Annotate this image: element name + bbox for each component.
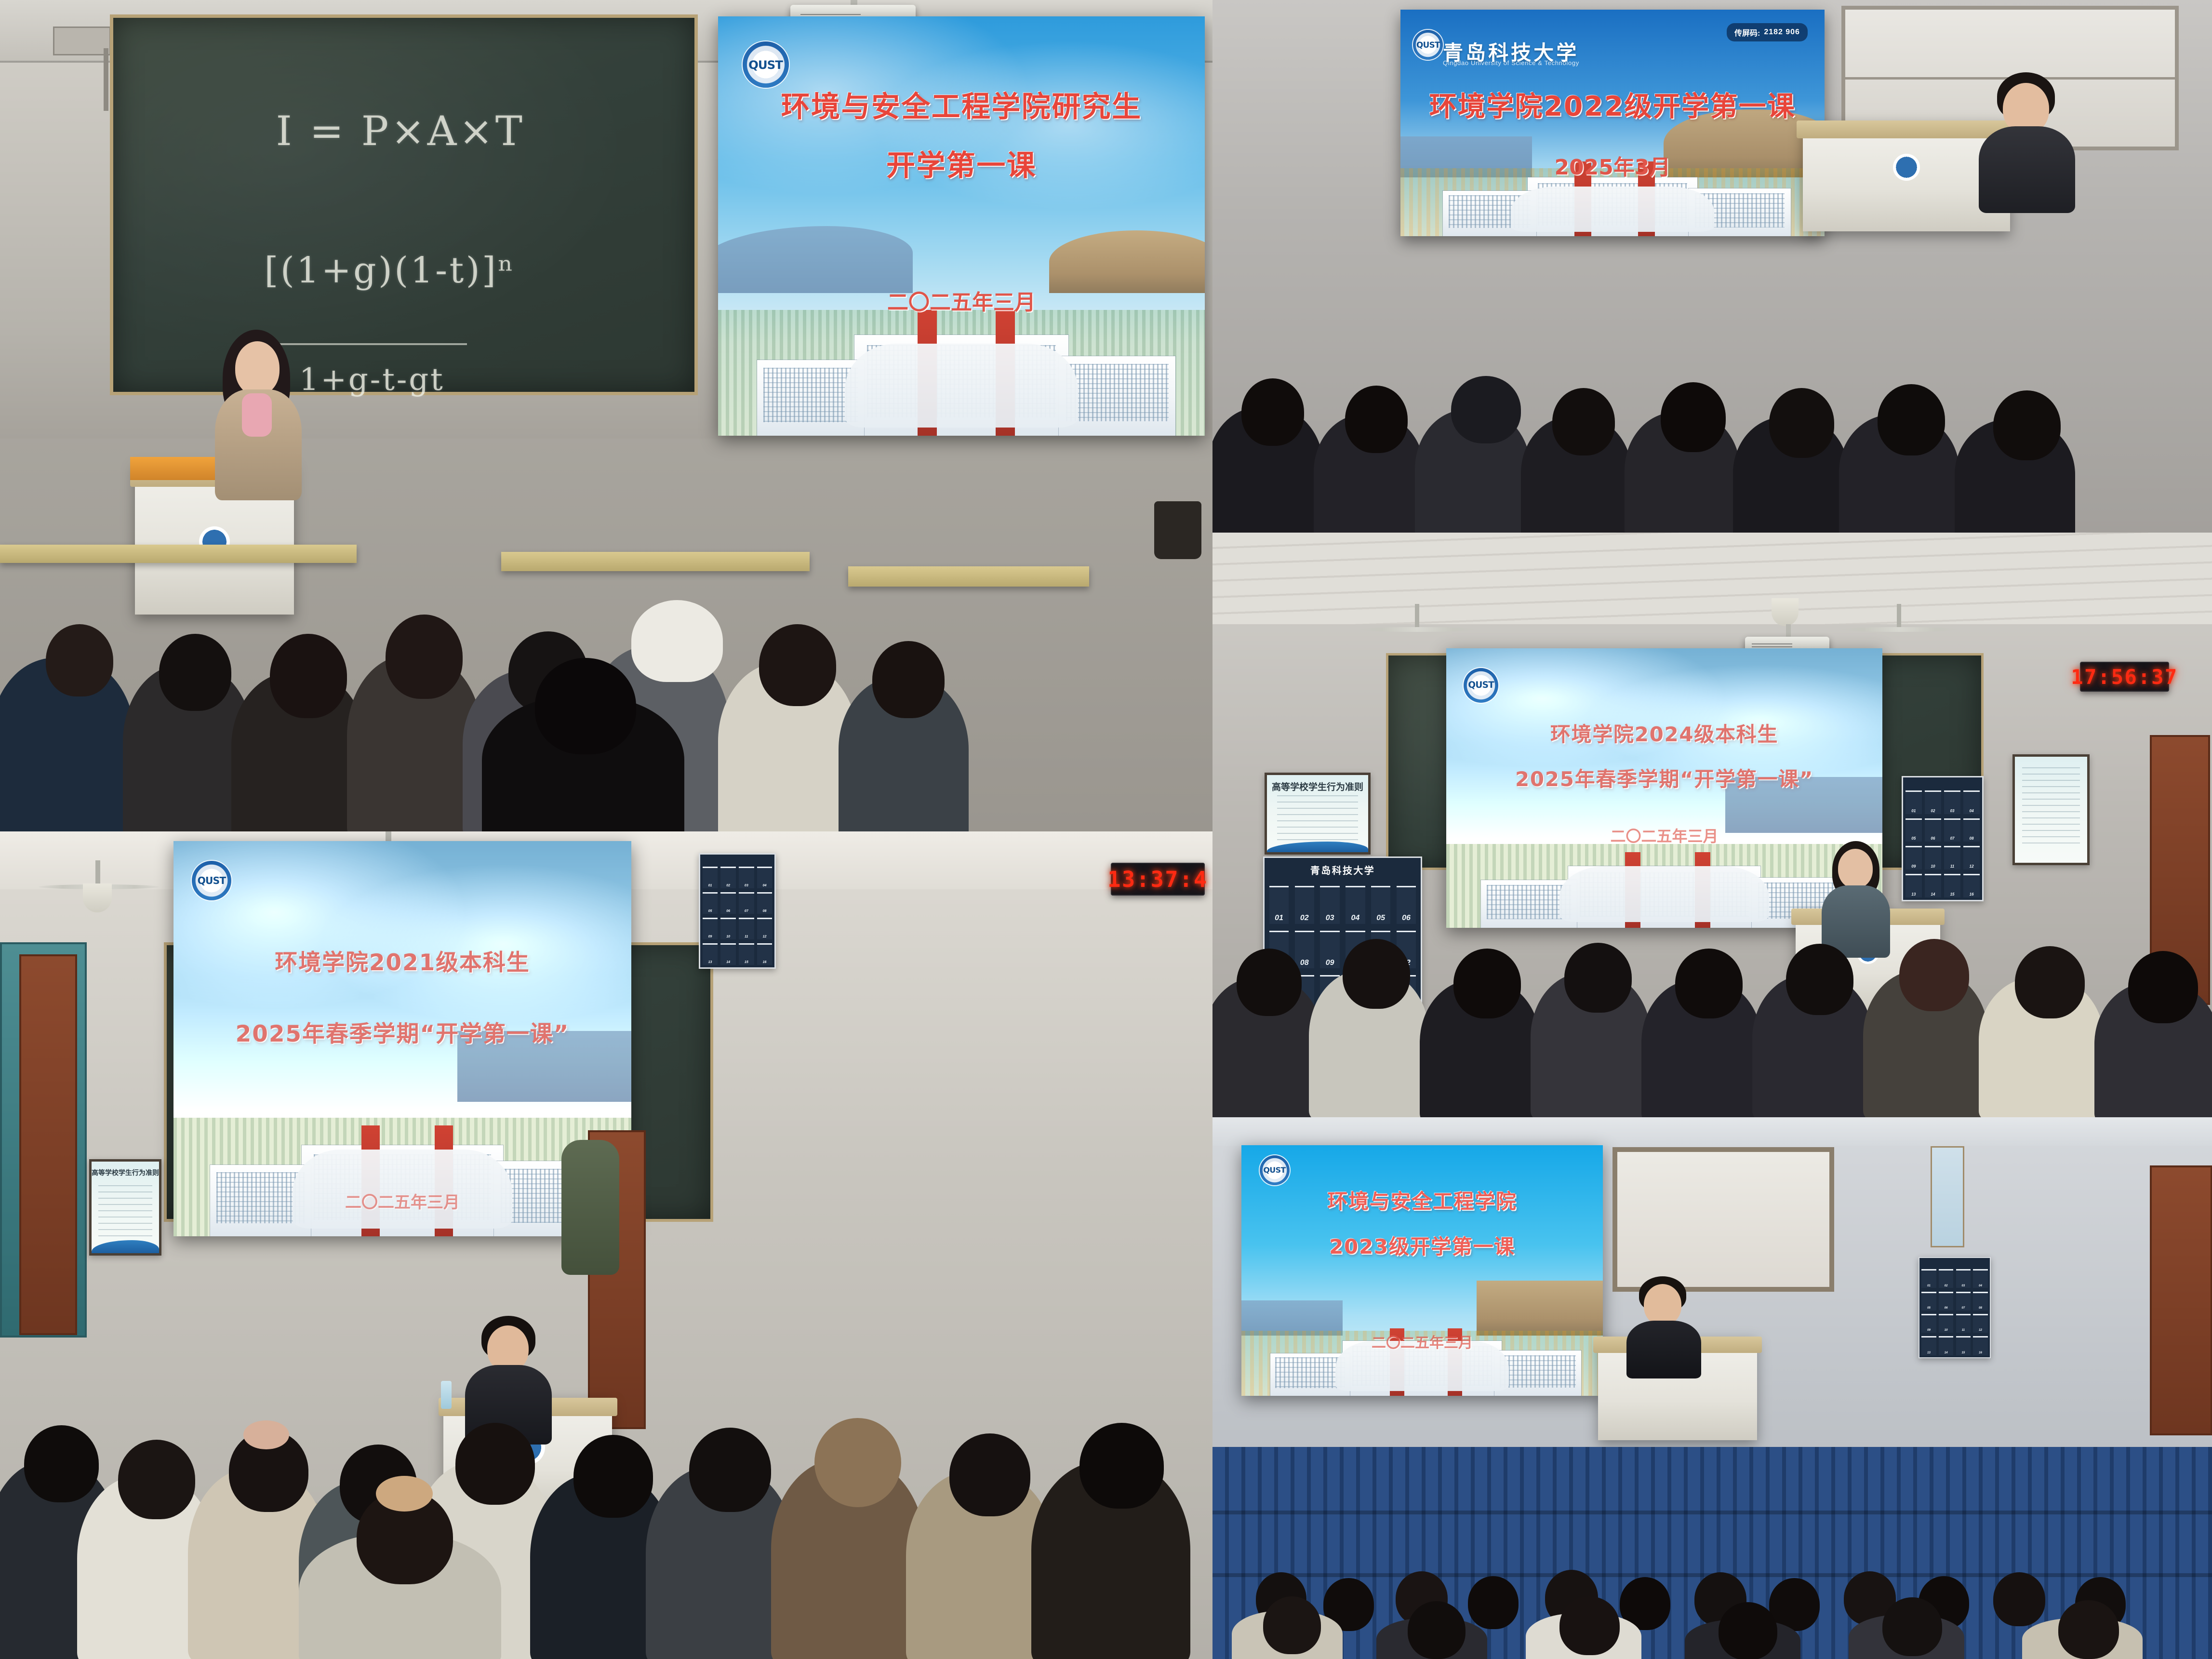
podium-control-panel bbox=[130, 457, 217, 480]
audience-member bbox=[455, 1423, 535, 1505]
ceiling-fan-blades bbox=[1357, 627, 1478, 632]
pocket-slot: 01 bbox=[1921, 1269, 1936, 1288]
wall-poster-wave bbox=[92, 1240, 159, 1253]
audience-member-front bbox=[1719, 1602, 1777, 1659]
slide-date: 2025年3月 bbox=[1400, 150, 1825, 181]
qust-logo-icon: QUST bbox=[1260, 1155, 1290, 1185]
audience-member bbox=[118, 1440, 195, 1519]
audience-block bbox=[0, 562, 1213, 831]
pocket-slot: 14 bbox=[1939, 1336, 1953, 1355]
wall-notice-frame bbox=[2012, 754, 2090, 865]
university-name-en: Qingdao University of Science & Technolo… bbox=[1443, 59, 1579, 67]
pocket-slot: 07 bbox=[739, 892, 754, 914]
speaker-torso bbox=[1979, 126, 2075, 213]
screen-code-chip: 传屏码: 2182 906 bbox=[1727, 23, 1808, 41]
slide-title: 环境学院2022级开学第一课 bbox=[1400, 84, 1825, 124]
hair-scrunchie-icon bbox=[376, 1476, 433, 1512]
qust-logo-icon: QUST bbox=[1464, 668, 1498, 703]
pocket-slot: 02 bbox=[1925, 790, 1941, 814]
audience-block bbox=[0, 1302, 1213, 1659]
wall-notice-body bbox=[2022, 767, 2080, 848]
audience-member-front bbox=[1408, 1601, 1466, 1659]
pocket-slot: 05 bbox=[703, 892, 718, 914]
audience-member bbox=[872, 641, 945, 718]
audience-member bbox=[1564, 943, 1632, 1013]
pocket-board-header bbox=[1919, 1258, 1990, 1267]
pocket-slot: 15 bbox=[739, 943, 754, 965]
slide-title-line1: 环境学院2024级本科生 bbox=[1446, 718, 1882, 748]
audience-member bbox=[1675, 949, 1743, 1018]
pocket-slot: 04 bbox=[1973, 1269, 1987, 1288]
classroom-door-wood bbox=[19, 954, 77, 1335]
ceiling bbox=[1213, 1117, 2212, 1146]
pocket-slot: 13 bbox=[1921, 1336, 1936, 1355]
wall-poster-title: 高等学校学生行为准则 bbox=[92, 1168, 159, 1177]
audience-member bbox=[386, 615, 463, 699]
wall-vent bbox=[53, 27, 111, 55]
audience-member bbox=[1343, 939, 1410, 1009]
led-clock: 17:56:37 bbox=[2080, 662, 2169, 692]
pocket-slot: 10 bbox=[720, 918, 736, 939]
projection-screen: QUST 环境与安全工程学院研究生 开学第一课 二〇二五年三月 bbox=[718, 16, 1205, 436]
pocket-slot: 05 bbox=[1921, 1292, 1936, 1311]
ceiling-lamp bbox=[1772, 598, 1799, 626]
qust-logo-icon: QUST bbox=[743, 41, 789, 88]
qust-logo-icon: QUST bbox=[192, 861, 231, 900]
audience-member bbox=[1241, 378, 1304, 446]
screen-code-value: 2182 906 bbox=[1764, 28, 1799, 37]
pocket-slot: 09 bbox=[1906, 846, 1922, 870]
audience-member bbox=[949, 1433, 1030, 1516]
slide-date: 二〇二五年三月 bbox=[1446, 824, 1882, 846]
audience-member bbox=[1345, 386, 1408, 453]
speaker-male bbox=[1625, 1276, 1702, 1365]
slide-title-line1: 环境与安全工程学院 bbox=[1241, 1185, 1603, 1215]
pocket-slot: 11 bbox=[1944, 846, 1960, 870]
ceiling bbox=[1213, 533, 2212, 624]
audience-member bbox=[1899, 939, 1969, 1011]
audience-member bbox=[24, 1425, 99, 1502]
chalk-formula-expand: 1+g-t-gt bbox=[299, 362, 445, 398]
led-clock: 13:37:4 bbox=[1111, 863, 1205, 896]
pocket-slot: 09 bbox=[703, 918, 718, 939]
pocket-board-header bbox=[1903, 777, 1982, 788]
led-display-wall: QUST 青岛科技大学 Qingdao University of Scienc… bbox=[1400, 10, 1825, 236]
projector-arm bbox=[1786, 624, 1791, 638]
led-clock-time: 13:37:4 bbox=[1107, 867, 1208, 892]
screen-code-label: 传屏码: bbox=[1734, 27, 1760, 38]
speaker-torso bbox=[1626, 1321, 1701, 1378]
wall-poster-title: 高等学校学生行为准则 bbox=[1267, 780, 1368, 793]
pocket-slot: 06 bbox=[1939, 1292, 1953, 1311]
panel-top-right: QUST 青岛科技大学 Qingdao University of Scienc… bbox=[1213, 0, 2212, 533]
audience-member-furhood bbox=[814, 1418, 901, 1507]
audience-member-front bbox=[1559, 1596, 1620, 1655]
ceiling-fan-rod bbox=[1415, 604, 1419, 630]
ceiling-fan-rod bbox=[1897, 604, 1901, 630]
phone-pocket-board: 01020304050607080910111213141516 bbox=[1919, 1257, 1991, 1358]
wall-poster-frame: 高等学校学生行为准则 bbox=[1265, 773, 1371, 855]
audience-member bbox=[1079, 1423, 1164, 1509]
whiteboard bbox=[1612, 1147, 1834, 1292]
pocket-slot: 01 bbox=[703, 867, 718, 888]
pocket-slot: 13 bbox=[703, 943, 718, 965]
audience-member bbox=[1993, 390, 2061, 460]
pocket-slot: 07 bbox=[1956, 1292, 1971, 1311]
audience-member bbox=[1786, 944, 1853, 1015]
pocket-slot: 04 bbox=[1963, 790, 1980, 814]
slide-title-line1: 环境学院2021级本科生 bbox=[173, 944, 631, 977]
audience-member bbox=[1878, 384, 1945, 455]
pocket-slot: 06 bbox=[720, 892, 736, 914]
audience-member bbox=[1237, 949, 1302, 1016]
audience-member-front bbox=[1882, 1597, 1942, 1656]
pocket-slot: 11 bbox=[739, 918, 754, 939]
chalk-formula-growth: [(1+g)(1-t)]ⁿ bbox=[265, 250, 516, 291]
audience-member bbox=[1993, 1572, 2045, 1626]
slide-date: 二〇二五年三月 bbox=[1241, 1331, 1603, 1352]
pocket-slot: 06 bbox=[1925, 818, 1941, 842]
speaker-head bbox=[1644, 1284, 1681, 1325]
audience-member bbox=[2015, 946, 2085, 1018]
panel-bottom-left: QUST 环境学院2021级本科生 2025年春季学期“开学第一课” 二〇二五年… bbox=[0, 831, 1213, 1659]
ceiling-lamp bbox=[83, 883, 112, 912]
slide-mountain-right bbox=[1477, 1281, 1603, 1336]
pocket-slot: 12 bbox=[757, 918, 773, 939]
auditorium-door bbox=[2150, 1165, 2212, 1435]
pocket-slot: 10 bbox=[1939, 1314, 1953, 1333]
audience-member bbox=[46, 624, 113, 696]
audience-member bbox=[759, 624, 836, 706]
ceiling-fan-blades bbox=[1839, 627, 1959, 632]
led-clock-time: 17:56:37 bbox=[2071, 665, 2178, 689]
trash-bin bbox=[1154, 501, 1201, 559]
slide-title-line2: 2023级开学第一课 bbox=[1241, 1231, 1603, 1260]
audience-block bbox=[1213, 876, 2212, 1117]
pocket-slot: 02 bbox=[720, 867, 736, 888]
pocket-slot: 03 bbox=[1944, 790, 1960, 814]
pocket-slot: 04 bbox=[757, 867, 773, 888]
pocket-slot: 14 bbox=[720, 943, 736, 965]
pocket-slot: 07 bbox=[1944, 818, 1960, 842]
audience-member bbox=[159, 634, 231, 711]
audience-member-front bbox=[1263, 1596, 1321, 1654]
pocket-slot: 12 bbox=[1963, 846, 1980, 870]
audience-member bbox=[1453, 949, 1521, 1018]
pocket-slot: 16 bbox=[757, 943, 773, 965]
pocket-slot: 10 bbox=[1925, 846, 1941, 870]
speaker-inner-top bbox=[242, 393, 272, 437]
panel-top-left: 大学生行为规范 15:49:44 I = P×A×T [(1+g)(1-t)]ⁿ… bbox=[0, 0, 1213, 831]
slide-date: 二〇二五年三月 bbox=[718, 285, 1205, 316]
audience-member-front bbox=[2058, 1600, 2119, 1659]
wall-poster-body bbox=[98, 1185, 152, 1240]
panel-bottom-right: QUST 环境与安全工程学院 2023级开学第一课 二〇二五年三月 010203… bbox=[1213, 1117, 2212, 1659]
audience-member bbox=[2128, 951, 2198, 1023]
wall-poster-body bbox=[1277, 795, 1358, 842]
wall-poster-wave bbox=[1267, 842, 1368, 852]
slide-mountain-left bbox=[718, 226, 913, 293]
hair-clip-icon bbox=[243, 1420, 289, 1449]
pocket-slot: 03 bbox=[1956, 1269, 1971, 1288]
slide-title-line1: 环境与安全工程学院研究生 bbox=[718, 83, 1205, 125]
photo-collage: 大学生行为规范 15:49:44 I = P×A×T [(1+g)(1-t)]ⁿ… bbox=[0, 0, 2212, 1659]
audience-member bbox=[270, 634, 347, 718]
pocket-slot: 05 bbox=[1906, 818, 1922, 842]
slide-title-line2: 开学第一课 bbox=[718, 142, 1205, 184]
pocket-slot: 03 bbox=[739, 867, 754, 888]
audience-member-cap bbox=[631, 600, 723, 682]
pocket-slot: 02 bbox=[1939, 1269, 1953, 1288]
pocket-board-grid: 01020304050607080910111213141516 bbox=[700, 864, 774, 967]
speaker-female bbox=[212, 333, 304, 496]
wall-conduit bbox=[104, 48, 108, 111]
pocket-slot: 16 bbox=[1973, 1336, 1987, 1355]
speaker-head bbox=[235, 341, 280, 395]
audience-member bbox=[1552, 388, 1615, 455]
pocket-slot: 08 bbox=[757, 892, 773, 914]
audience-member bbox=[573, 1435, 653, 1518]
coat-hook-jacket bbox=[561, 1140, 619, 1275]
pocket-slot: 12 bbox=[1973, 1314, 1987, 1333]
slide-plaza bbox=[845, 344, 1079, 428]
projection-screen: QUST 环境与安全工程学院 2023级开学第一课 二〇二五年三月 bbox=[1241, 1145, 1603, 1396]
podium-emblem-icon bbox=[1893, 154, 1920, 181]
wall-poster-frame: 高等学校学生行为准则 bbox=[89, 1159, 161, 1256]
slide-title-line2: 2025年春季学期“开学第一课” bbox=[173, 1015, 631, 1048]
panel-mid-right: QUST 环境学院2024级本科生 2025年春季学期“开学第一课” 二〇二五年… bbox=[1213, 533, 2212, 1117]
pocket-slot: 11 bbox=[1956, 1314, 1971, 1333]
audience-member bbox=[689, 1428, 771, 1512]
audience-member bbox=[535, 658, 636, 754]
wall-notice-strip bbox=[1931, 1146, 1964, 1247]
pocket-slot: 08 bbox=[1973, 1292, 1987, 1311]
pocket-slot: 15 bbox=[1956, 1336, 1971, 1355]
pocket-slot: 01 bbox=[1906, 790, 1922, 814]
pocket-board-header bbox=[700, 855, 774, 864]
slide-plaza bbox=[1511, 187, 1714, 232]
phone-pocket-board: 01020304050607080910111213141516 bbox=[699, 853, 776, 969]
pocket-slot: 08 bbox=[1963, 818, 1980, 842]
audience-block bbox=[1213, 330, 2212, 533]
audience-member bbox=[1468, 1576, 1519, 1629]
pocket-board-grid: 01020304050607080910111213141516 bbox=[1919, 1267, 1990, 1357]
student-desk-row-1 bbox=[0, 545, 357, 563]
audience-member-cap bbox=[1451, 376, 1521, 443]
chalk-formula-ipat: I = P×A×T bbox=[276, 107, 525, 155]
audience-block bbox=[1213, 1452, 2212, 1659]
audience-member bbox=[1769, 388, 1834, 458]
slide-title-line2: 2025年春季学期“开学第一课” bbox=[1446, 763, 1882, 792]
blackboard: I = P×A×T [(1+g)(1-t)]ⁿ 1+g-t-gt bbox=[110, 14, 698, 395]
speaker-male bbox=[1979, 72, 2075, 202]
pocket-slot: 09 bbox=[1921, 1314, 1936, 1333]
audience-member bbox=[1661, 382, 1726, 452]
